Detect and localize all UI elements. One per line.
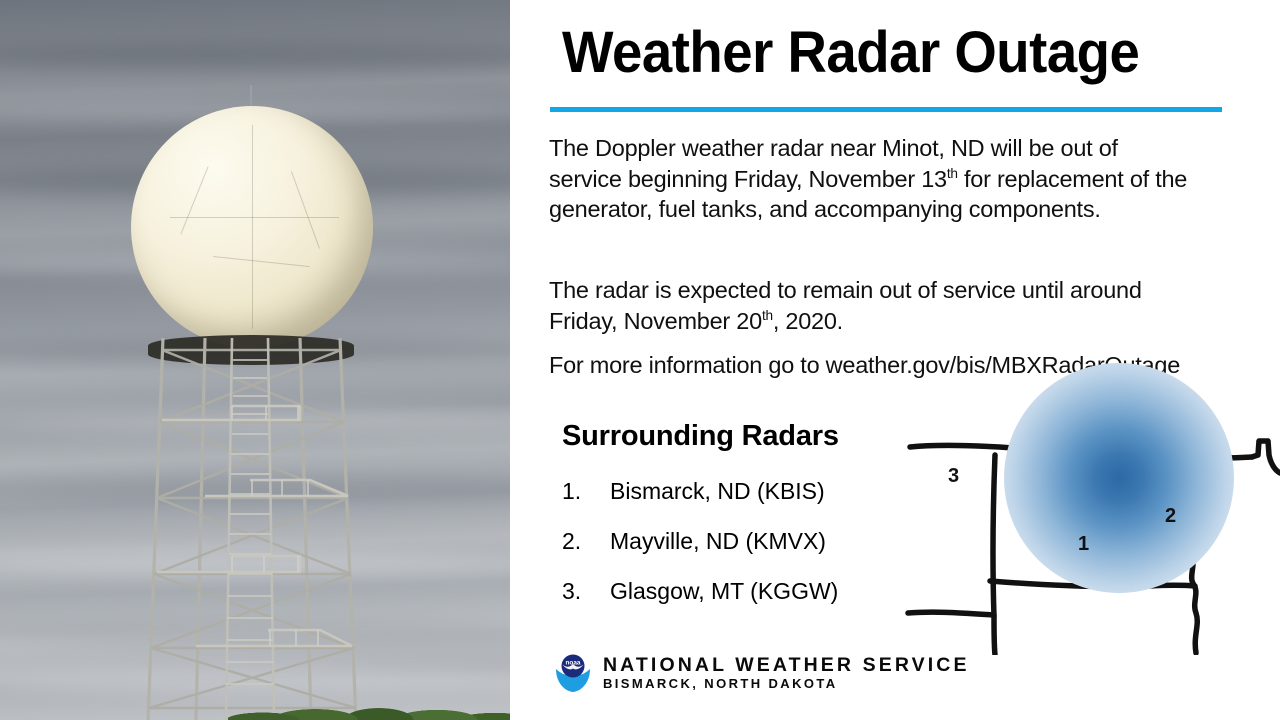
outage-description-paragraph: The Doppler weather radar near Minot, ND… <box>549 133 1189 225</box>
radar-tower-photo <box>0 0 510 720</box>
logo-text-block: NATIONAL WEATHER SERVICE BISMARCK, NORTH… <box>603 655 970 692</box>
surrounding-radars-list: 1. Bismarck, ND (KBIS) 2. Mayville, ND (… <box>562 478 912 628</box>
list-item-number: 1. <box>562 478 610 505</box>
radome-sphere <box>131 106 373 348</box>
map-marker-2: 2 <box>1165 505 1176 528</box>
list-item: 1. Bismarck, ND (KBIS) <box>562 478 912 505</box>
list-item-label: Mayville, ND (KMVX) <box>610 528 912 555</box>
weather-radar-outage-graphic: Weather Radar Outage The Doppler weather… <box>0 0 1280 720</box>
list-item-label: Glasgow, MT (KGGW) <box>610 578 912 605</box>
lattice-tower-structure <box>0 330 510 720</box>
list-item-number: 3. <box>562 578 610 605</box>
restoration-estimate-paragraph: The radar is expected to remain out of s… <box>549 275 1189 336</box>
title-underline-rule <box>550 107 1222 112</box>
office-name: BISMARCK, NORTH DAKOTA <box>603 676 970 692</box>
tree-line <box>228 668 510 720</box>
north-dakota-map: 1 2 3 <box>900 385 1280 655</box>
map-marker-3: 3 <box>948 465 959 488</box>
list-item: 2. Mayville, ND (KMVX) <box>562 528 912 555</box>
radar-coverage-blob <box>1004 363 1234 593</box>
surrounding-radars-heading: Surrounding Radars <box>562 420 839 453</box>
page-title: Weather Radar Outage <box>562 24 1139 82</box>
list-item: 3. Glasgow, MT (KGGW) <box>562 578 912 605</box>
list-item-number: 2. <box>562 528 610 555</box>
nws-logo: noaa NATIONAL WEATHER SERVICE BISMARCK, … <box>552 652 970 694</box>
content-panel: Weather Radar Outage The Doppler weather… <box>510 0 1280 720</box>
agency-name: NATIONAL WEATHER SERVICE <box>603 655 970 676</box>
cloud-streak <box>0 43 510 69</box>
map-marker-1: 1 <box>1078 533 1089 556</box>
list-item-label: Bismarck, ND (KBIS) <box>610 478 912 505</box>
noaa-emblem-icon: noaa <box>552 652 594 694</box>
svg-text:noaa: noaa <box>566 660 581 667</box>
